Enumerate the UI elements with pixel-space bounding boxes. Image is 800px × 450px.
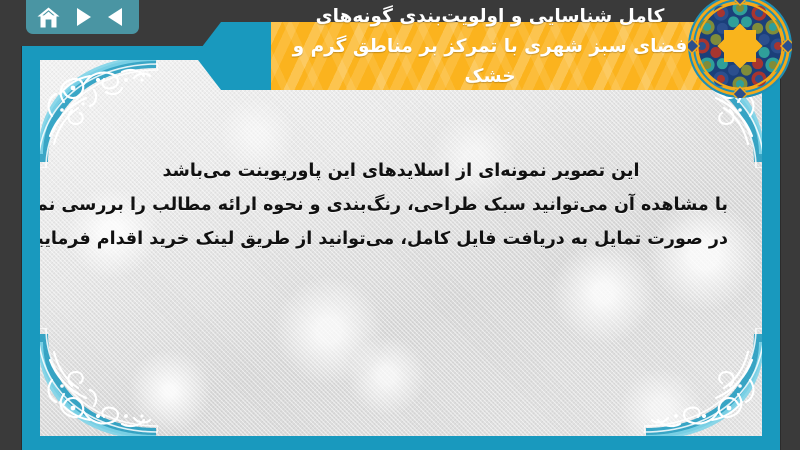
ornament-top-left: [40, 60, 158, 168]
banner-body: [271, 22, 755, 90]
ornament-bottom-left: [40, 328, 158, 436]
home-button[interactable]: [34, 4, 64, 30]
next-slide-button[interactable]: [68, 4, 98, 30]
slide-content-area: این تصویر نمونه‌ای از اسلایدهای این پاور…: [40, 60, 762, 436]
triangle-right-icon: [74, 7, 92, 27]
triangle-left-icon: [107, 7, 125, 27]
body-line-2: با مشاهده آن می‌توانید سبک طراحی، رنگ‌بن…: [74, 188, 728, 222]
body-line-3: در صورت تمایل به دریافت فایل کامل، می‌تو…: [74, 222, 728, 256]
banner-ribbon-tail: [195, 22, 273, 90]
previous-slide-button[interactable]: [101, 4, 131, 30]
presentation-viewer: این تصویر نمونه‌ای از اسلایدهای این پاور…: [0, 0, 800, 450]
ornamental-medallion: [688, 0, 792, 98]
body-line-1: این تصویر نمونه‌ای از اسلایدهای این پاور…: [74, 154, 728, 188]
home-icon: [37, 7, 60, 28]
slide-title-banner: کامل شناسایی و اولویت‌بندی گونه‌های فضای…: [195, 22, 755, 90]
slide-navigation-bar: [26, 0, 139, 34]
ornament-bottom-right: [644, 328, 762, 436]
slide-body-text: این تصویر نمونه‌ای از اسلایدهای این پاور…: [74, 154, 728, 256]
slide-canvas[interactable]: این تصویر نمونه‌ای از اسلایدهای این پاور…: [22, 46, 780, 450]
